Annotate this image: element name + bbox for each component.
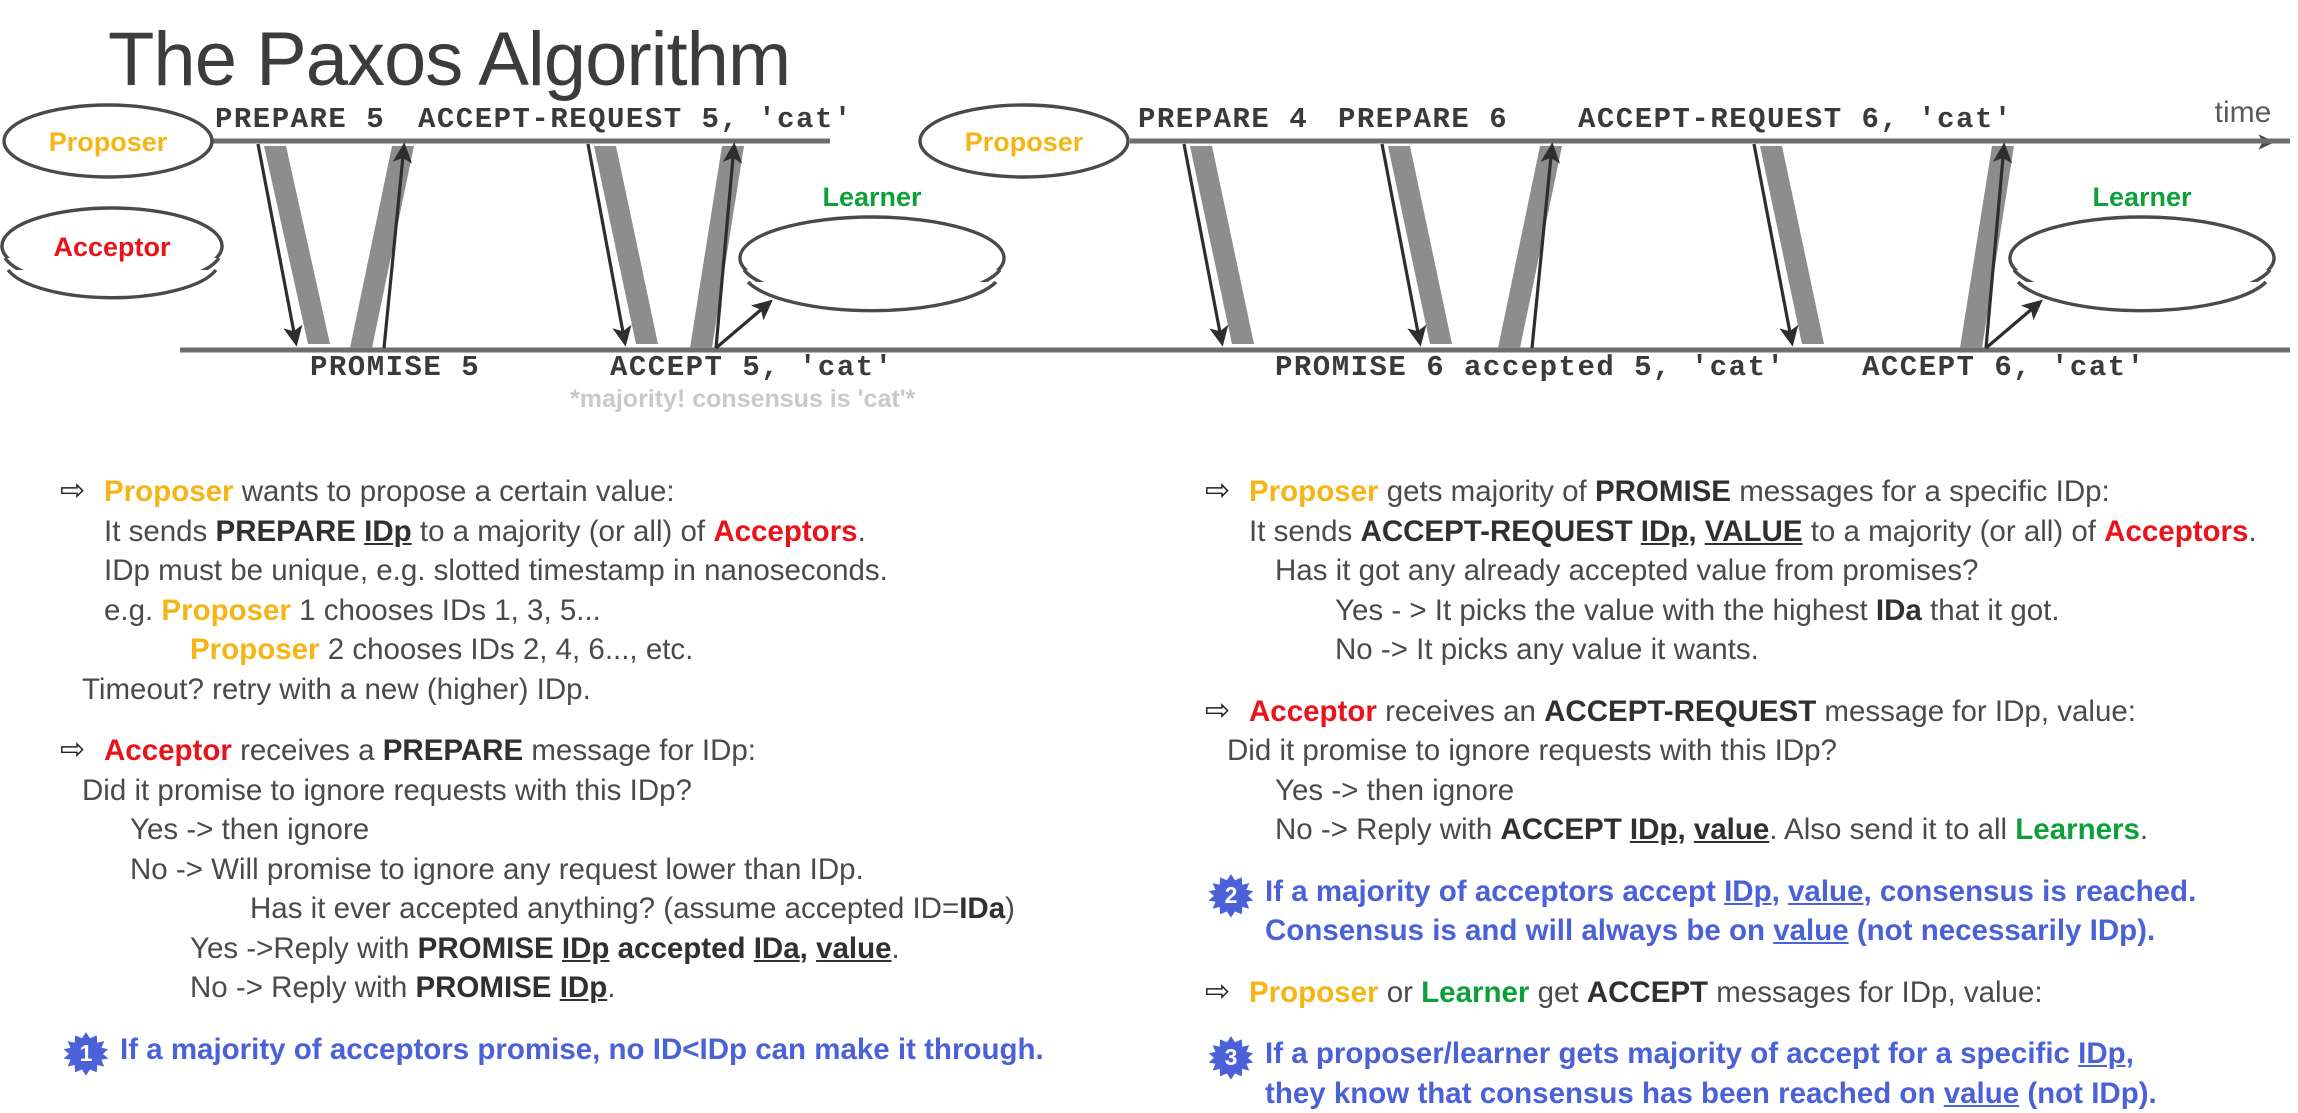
callout-3: 3 If a proposer/learner gets majority of…: [1205, 1034, 2298, 1074]
role-word-proposer: Proposer: [161, 594, 291, 627]
consensus-note: *majority! consensus is 'cat'*: [570, 385, 916, 413]
left-block-proposer: ⇨ Proposer wants to propose a certain va…: [60, 472, 1170, 709]
list-item: Yes ->Reply with PROMISE IDp accepted ID…: [60, 929, 1170, 969]
left-block-acceptor: ⇨ Acceptor receives a PREPARE message fo…: [60, 731, 1170, 1008]
kw-promise: PROMISE IDp accepted IDa, value: [418, 932, 892, 965]
list-item: Did it promise to ignore requests with t…: [60, 771, 1170, 811]
callout-1: 1 If a majority of acceptors promise, no…: [60, 1030, 1170, 1070]
msg-prepare-4: PREPARE 4: [1138, 103, 1308, 136]
list-item: It sends ACCEPT-REQUEST IDp, VALUE to a …: [1205, 512, 2298, 552]
list-item: No -> Reply with ACCEPT IDp, value. Also…: [1205, 810, 2298, 850]
callout-number: 2: [1225, 882, 1238, 908]
callout-2-block: 2 If a majority of acceptors accept IDp,…: [1205, 872, 2298, 951]
proposer-node-2: Proposer: [920, 105, 1128, 177]
learner-node-2: Learner: [2010, 182, 2274, 311]
list-item: Has it ever accepted anything? (assume a…: [60, 889, 1170, 929]
kw-ida: IDa: [959, 892, 1005, 925]
callout-2-line-2: Consensus is and will always be on value…: [1205, 911, 2298, 951]
kw-accept: ACCEPT IDp, value: [1500, 813, 1769, 846]
round-1-group: PREPARE 5 ACCEPT-REQUEST 5, 'cat' PROMIS…: [2, 103, 1004, 413]
role-word-acceptors: Acceptors: [713, 515, 857, 548]
right-block-proposer: ⇨ Proposer gets majority of PROMISE mess…: [1205, 472, 2298, 670]
kw-ida: IDa: [1876, 594, 1922, 627]
role-word-proposer: Proposer: [104, 475, 234, 508]
list-item: Proposer 2 chooses IDs 2, 4, 6..., etc.: [60, 630, 1170, 670]
role-word-learners: Learners: [2015, 813, 2140, 846]
msg-prepare-5: PREPARE 5: [215, 103, 385, 136]
role-word-acceptor: Acceptor: [104, 734, 232, 767]
callout-number: 1: [80, 1040, 93, 1066]
kw-accept: ACCEPT: [1587, 976, 1708, 1009]
list-item: Did it promise to ignore requests with t…: [1205, 731, 2298, 771]
proposer-label-2: Proposer: [965, 127, 1084, 157]
role-word-proposer: Proposer: [1249, 475, 1379, 508]
arrow-bullet-icon: ⇨: [1205, 972, 1230, 1012]
list-item: ⇨ Acceptor receives a PREPARE message fo…: [60, 731, 1170, 771]
msg-prepare-6: PREPARE 6: [1338, 103, 1508, 136]
role-word-learner: Learner: [1421, 976, 1529, 1009]
right-column: ⇨ Proposer gets majority of PROMISE mess…: [1205, 472, 2298, 1113]
callout-3-line-2: they know that consensus has been reache…: [1205, 1074, 2298, 1113]
role-word-proposer: Proposer: [190, 633, 320, 666]
list-item: ⇨ Acceptor receives an ACCEPT-REQUEST me…: [1205, 692, 2298, 732]
arrow-bullet-icon: ⇨: [1205, 691, 1230, 731]
arrow-bullet-icon: ⇨: [60, 471, 85, 511]
kw-promise: PROMISE IDp: [415, 971, 607, 1004]
callout-number: 3: [1225, 1044, 1238, 1070]
kw-promise: PROMISE: [1595, 475, 1731, 508]
msg-accept-request-5: ACCEPT-REQUEST 5, 'cat': [418, 103, 853, 136]
list-item: No -> It picks any value it wants.: [1205, 630, 2298, 670]
list-item: e.g. Proposer 1 chooses IDs 1, 3, 5...: [60, 591, 1170, 631]
learner-label-2: Learner: [2092, 182, 2192, 212]
msg-accept-6: ACCEPT 6, 'cat': [1862, 351, 2146, 384]
role-word-proposer: Proposer: [1249, 976, 1379, 1009]
list-item: Has it got any already accepted value fr…: [1205, 551, 2298, 591]
list-item: Yes - > It picks the value with the high…: [1205, 591, 2298, 631]
msg-accept-request-6: ACCEPT-REQUEST 6, 'cat': [1578, 103, 2013, 136]
kw-prepare: PREPARE: [383, 734, 523, 767]
kw-prepare: PREPARE IDp: [216, 515, 412, 548]
list-item: ⇨ Proposer wants to propose a certain va…: [60, 472, 1170, 512]
list-item: Timeout? retry with a new (higher) IDp.: [60, 670, 1170, 710]
star-badge-icon: 1: [64, 1032, 108, 1076]
role-word-acceptors: Acceptors: [2104, 515, 2248, 548]
arrow-bullet-icon: ⇨: [1205, 471, 1230, 511]
list-item: It sends PREPARE IDp to a majority (or a…: [60, 512, 1170, 552]
acceptor-node-1: Acceptor: [2, 208, 222, 298]
list-item: Yes -> then ignore: [1205, 771, 2298, 811]
callout-3-block: 3 If a proposer/learner gets majority of…: [1205, 1034, 2298, 1113]
list-item: IDp must be unique, e.g. slotted timesta…: [60, 551, 1170, 591]
callout-2: 2 If a majority of acceptors accept IDp,…: [1205, 872, 2298, 912]
arrow-bullet-icon: ⇨: [60, 730, 85, 770]
proposer-label-1: Proposer: [49, 127, 168, 157]
paxos-sequence-diagram: time PREPARE 5 ACCEPT-REQUEST 5, 'cat' P…: [0, 100, 2298, 430]
page-title: The Paxos Algorithm: [108, 16, 790, 103]
time-axis-label: time: [2215, 100, 2272, 129]
kw-accept-request: ACCEPT-REQUEST IDp, VALUE: [1361, 515, 1803, 548]
msg-promise-5: PROMISE 5: [310, 351, 480, 384]
explanation-columns: ⇨ Proposer wants to propose a certain va…: [0, 472, 2298, 1066]
list-item: No -> Reply with PROMISE IDp.: [60, 968, 1170, 1008]
proposer-node-1: Proposer: [4, 105, 212, 177]
list-item: Yes -> then ignore: [60, 810, 1170, 850]
msg-accept-5: ACCEPT 5, 'cat': [610, 351, 894, 384]
list-item: ⇨ Proposer or Learner get ACCEPT message…: [1205, 973, 2298, 1013]
msg-promise-6: PROMISE 6 accepted 5, 'cat': [1275, 351, 1785, 384]
round-2-group: PREPARE 4 PREPARE 6 ACCEPT-REQUEST 6, 'c…: [900, 103, 2290, 384]
right-block-acceptor: ⇨ Acceptor receives an ACCEPT-REQUEST me…: [1205, 692, 2298, 850]
acceptor-label-1: Acceptor: [53, 232, 171, 262]
kw-accept-request: ACCEPT-REQUEST: [1544, 695, 1816, 728]
left-column: ⇨ Proposer wants to propose a certain va…: [60, 472, 1170, 1069]
list-item: No -> Will promise to ignore any request…: [60, 850, 1170, 890]
time-axis-group: time: [2180, 100, 2272, 142]
learner-node-1: Learner: [740, 182, 1004, 311]
role-word-acceptor: Acceptor: [1249, 695, 1377, 728]
list-item: ⇨ Proposer gets majority of PROMISE mess…: [1205, 472, 2298, 512]
right-block-learner: ⇨ Proposer or Learner get ACCEPT message…: [1205, 973, 2298, 1013]
learner-label-1: Learner: [822, 182, 922, 212]
